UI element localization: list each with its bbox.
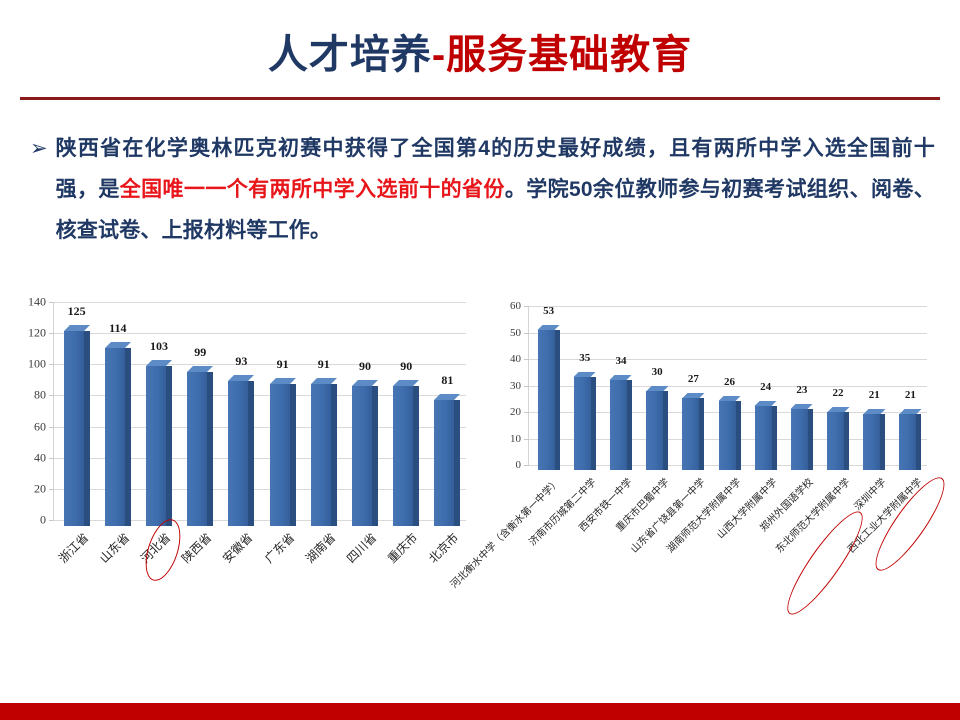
bar[interactable]: [393, 380, 419, 526]
y-axis-tick-label: 80: [13, 388, 46, 403]
bar-value-label: 81: [422, 373, 472, 388]
bar-front-face: [791, 409, 808, 470]
bar-front-face: [270, 384, 290, 526]
bar[interactable]: [827, 407, 849, 470]
bar-side-face: [331, 384, 337, 526]
arrow-bullet-icon: ➢: [30, 128, 48, 168]
body-text: 陕西省在化学奥林匹克初赛中获得了全国第4的历史最好成绩，且有两所中学入选全国前十…: [56, 128, 935, 251]
bar-side-face: [663, 391, 668, 471]
bar-side-face: [627, 380, 632, 470]
bar[interactable]: [646, 386, 668, 471]
bar-value-label: 114: [93, 321, 143, 336]
axis-tick: [49, 302, 54, 303]
y-axis-tick-label: 20: [13, 481, 46, 496]
bar[interactable]: [270, 378, 296, 526]
bar-front-face: [434, 400, 454, 526]
bar-side-face: [880, 414, 885, 470]
y-axis-tick-label: 60: [13, 419, 46, 434]
bar[interactable]: [228, 375, 254, 526]
bar-side-face: [591, 377, 596, 470]
axis-tick: [49, 364, 54, 365]
page-title-primary: 人才培养: [268, 33, 432, 77]
bar[interactable]: [434, 394, 460, 526]
bar-front-face: [755, 406, 772, 470]
body-paragraph: ➢ 陕西省在化学奥林匹克初赛中获得了全国第4的历史最好成绩，且有两所中学入选全国…: [30, 128, 935, 251]
gridline: [529, 333, 927, 334]
axis-tick: [524, 412, 529, 413]
axis-tick: [524, 465, 529, 466]
bar-side-face: [84, 331, 90, 526]
bar-side-face: [166, 366, 172, 526]
bar[interactable]: [352, 380, 378, 526]
axis-tick: [524, 439, 529, 440]
bar-front-face: [719, 401, 736, 470]
bar-side-face: [413, 386, 419, 526]
y-axis-tick-label: 10: [488, 433, 521, 445]
bar-side-face: [699, 398, 704, 470]
bar-value-label: 90: [381, 359, 431, 374]
bar-front-face: [827, 412, 844, 470]
bar-value-label: 125: [52, 304, 102, 319]
bar-value-label: 21: [887, 389, 933, 401]
bar[interactable]: [863, 409, 885, 470]
bar-front-face: [105, 348, 125, 526]
gridline: [529, 306, 927, 307]
bar-side-face: [844, 412, 849, 470]
axis-tick: [49, 395, 54, 396]
bar-front-face: [187, 372, 207, 526]
bar-side-face: [736, 401, 741, 470]
gridline: [54, 302, 466, 303]
bar-front-face: [899, 414, 916, 470]
bar-side-face: [555, 330, 560, 470]
bar[interactable]: [538, 325, 560, 470]
bar[interactable]: [610, 375, 632, 470]
bar[interactable]: [64, 325, 90, 526]
axis-tick: [49, 333, 54, 334]
page-title-secondary: -服务基础教育: [432, 33, 692, 77]
bar-side-face: [916, 414, 921, 470]
y-axis-tick-label: 40: [488, 353, 521, 365]
body-text-highlight: 全国唯一一个有两所中学入选前十的省份: [120, 178, 505, 201]
bar-value-label: 53: [526, 305, 572, 317]
chart-provinces: 020406080100120140125浙江省114山东省103河北省99陕西…: [8, 288, 478, 608]
bar-front-face: [393, 386, 413, 526]
axis-tick: [49, 489, 54, 490]
y-axis-tick-label: 120: [13, 326, 46, 341]
bar[interactable]: [187, 366, 213, 526]
bar[interactable]: [899, 409, 921, 470]
bar-side-face: [808, 409, 813, 470]
bar-side-face: [207, 372, 213, 526]
bar-front-face: [610, 380, 627, 470]
bar-front-face: [646, 391, 663, 471]
bar-front-face: [64, 331, 84, 526]
y-axis-tick-label: 50: [488, 327, 521, 339]
footer-accent-bar: [0, 703, 960, 720]
bar-side-face: [290, 384, 296, 526]
bar[interactable]: [719, 396, 741, 470]
bar[interactable]: [146, 360, 172, 526]
bar[interactable]: [755, 401, 777, 470]
bar-front-face: [863, 414, 880, 470]
title-divider: [20, 97, 940, 100]
axis-tick: [49, 427, 54, 428]
axis-tick: [524, 359, 529, 360]
bar-front-face: [146, 366, 166, 526]
y-axis-tick-label: 0: [488, 459, 521, 471]
bar-front-face: [682, 398, 699, 470]
axis-tick: [49, 458, 54, 459]
page-title: 人才培养-服务基础教育: [0, 22, 960, 80]
bar-front-face: [538, 330, 555, 470]
bar-front-face: [311, 384, 331, 526]
bar[interactable]: [574, 372, 596, 470]
bar-front-face: [228, 381, 248, 526]
bar-side-face: [248, 381, 254, 526]
bar[interactable]: [682, 393, 704, 470]
chart-schools: 010203040506053河北衡水中学（含衡水第一中学）35济南市历城第二中…: [485, 292, 955, 622]
axis-tick: [49, 520, 54, 521]
bar-side-face: [125, 348, 131, 526]
y-axis-tick-label: 0: [13, 513, 46, 528]
bar[interactable]: [311, 378, 337, 526]
axis-tick: [524, 333, 529, 334]
bar-side-face: [454, 400, 460, 526]
y-axis-tick-label: 100: [13, 357, 46, 372]
bar-side-face: [772, 406, 777, 470]
axis-tick: [524, 386, 529, 387]
bar-front-face: [352, 386, 372, 526]
y-axis-tick-label: 20: [488, 406, 521, 418]
y-axis-tick-label: 140: [13, 295, 46, 310]
bar[interactable]: [791, 404, 813, 470]
bar[interactable]: [105, 342, 131, 526]
y-axis-tick-label: 30: [488, 380, 521, 392]
bar-front-face: [574, 377, 591, 470]
y-axis-tick-label: 60: [488, 300, 521, 312]
y-axis-tick-label: 40: [13, 450, 46, 465]
bar-side-face: [372, 386, 378, 526]
